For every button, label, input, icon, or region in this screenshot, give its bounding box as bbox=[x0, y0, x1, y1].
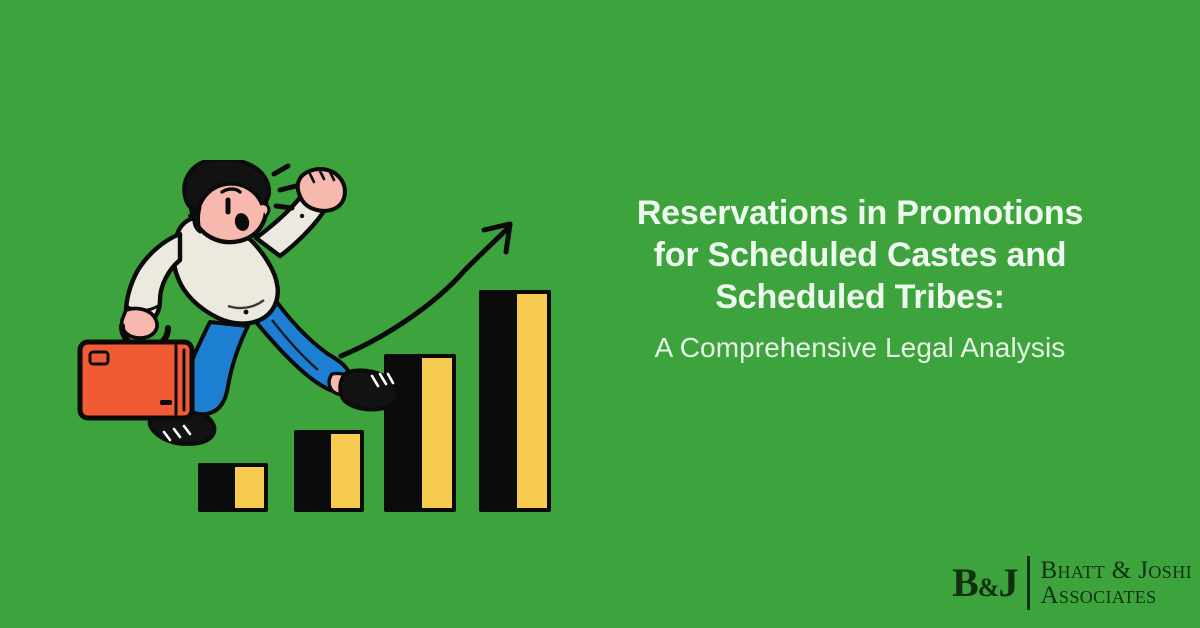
logo-divider bbox=[1027, 556, 1030, 610]
briefcase-icon bbox=[80, 342, 192, 418]
logo-monogram: B&J bbox=[952, 563, 1027, 603]
logo-monogram-b: B bbox=[952, 560, 978, 605]
headline-line-3: Scheduled Tribes: bbox=[590, 276, 1130, 318]
logo-firm-name: Bhatt & Joshi bbox=[1040, 558, 1192, 584]
headline-line-2: for Scheduled Castes and bbox=[590, 234, 1130, 276]
bar-1 bbox=[200, 465, 266, 510]
businessman-illustration bbox=[80, 160, 398, 444]
subtitle: A Comprehensive Legal Analysis bbox=[590, 330, 1130, 366]
hero-illustration bbox=[60, 160, 580, 540]
briefcase-hand bbox=[122, 308, 157, 338]
front-shoe bbox=[340, 370, 398, 409]
logo-monogram-j: J bbox=[998, 560, 1017, 605]
logo-monogram-ampersand: & bbox=[978, 573, 999, 602]
motion-lines-icon bbox=[274, 166, 296, 208]
logo-firm-suffix: Associates bbox=[1040, 583, 1192, 609]
headline-block: Reservations in Promotions for Scheduled… bbox=[590, 192, 1130, 366]
bar-2 bbox=[296, 432, 362, 510]
brand-logo: B&J Bhatt & Joshi Associates bbox=[952, 554, 1192, 612]
headline-line-1: Reservations in Promotions bbox=[590, 192, 1130, 234]
bar-4 bbox=[481, 292, 549, 510]
logo-wordmark: Bhatt & Joshi Associates bbox=[1040, 558, 1192, 609]
bar-3 bbox=[386, 356, 454, 510]
promo-banner: Reservations in Promotions for Scheduled… bbox=[0, 0, 1200, 628]
